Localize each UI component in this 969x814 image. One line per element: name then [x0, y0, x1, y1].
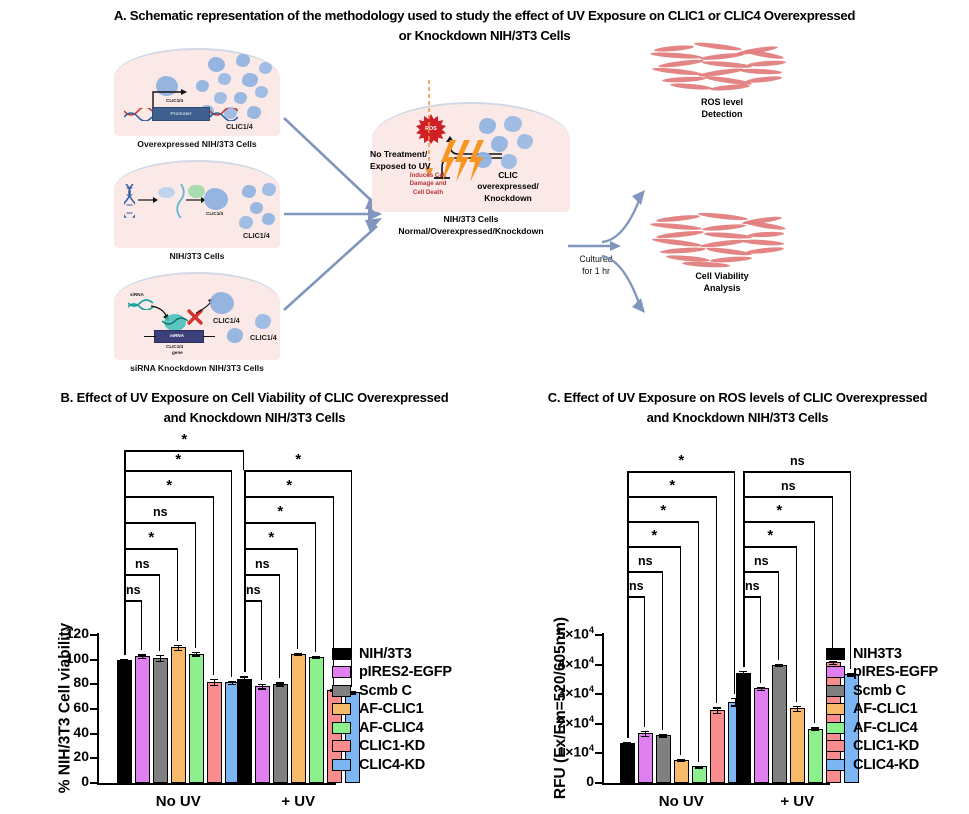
ros-detection-cells-image: [648, 44, 796, 92]
bracket-right-tick: [832, 496, 834, 657]
legend-color-swatch: [826, 648, 845, 660]
y-tick-mark: [595, 782, 603, 784]
legend-label: AF-CLIC1: [853, 701, 917, 717]
significance-bracket: ns: [743, 496, 833, 497]
bracket-horizontal-line: [124, 600, 142, 602]
legend-color-swatch: [332, 759, 351, 771]
dna-strand-icon: [210, 108, 238, 121]
bracket-horizontal-line: [743, 596, 761, 598]
bracket-horizontal-line: [124, 548, 178, 550]
clic-line2: overexpressed/: [477, 181, 538, 191]
legend-item[interactable]: pIRES-EGFP: [826, 665, 938, 680]
bracket-right-tick: [141, 600, 143, 650]
legend-label: CLIC4-KD: [359, 757, 425, 773]
promoter-box: Promoter: [152, 107, 210, 121]
legend-label: pIRES2-EGFP: [359, 664, 452, 680]
bar: [754, 688, 769, 783]
bracket-horizontal-line: [627, 546, 681, 548]
bar: [656, 735, 671, 783]
significance-label: ns: [244, 557, 280, 571]
significance-label: *: [627, 505, 699, 518]
significance-bracket: ns: [124, 522, 196, 523]
ros-detection-caption: ROS level Detection: [650, 96, 794, 120]
bar: [674, 760, 689, 783]
legend-item[interactable]: CLIC1-KD: [826, 739, 938, 754]
error-bar-cap: [757, 690, 765, 691]
bar: [135, 656, 150, 783]
clic-protein-blob: [210, 292, 234, 314]
clic-group-label: CLIC1/4: [250, 333, 277, 342]
panel-b-legend: NIH/3T3pIRES2-EGFPScmb CAF-CLIC1AF-CLIC4…: [332, 646, 452, 776]
significance-label: *: [244, 454, 352, 467]
damage-line3: Cell Death: [413, 189, 443, 196]
error-bar-cap: [793, 706, 801, 707]
legend-color-swatch: [826, 666, 845, 678]
error-bar-cap: [210, 679, 218, 680]
legend-item[interactable]: AF-CLIC1: [332, 702, 452, 717]
legend-label: CLIC4-KD: [853, 757, 919, 773]
gene-name-label: CLIC1/4: [166, 98, 183, 103]
gene-caption-line1: CLIC1/4: [166, 344, 183, 349]
uv-line2: Exposed to UV: [370, 161, 431, 171]
y-tick-mark: [90, 683, 98, 685]
significance-bracket: *: [124, 496, 214, 497]
significance-bracket: *: [124, 470, 232, 471]
cell-diagram-caption: siRNA Knockdown NIH/3T3 Cells: [114, 363, 280, 373]
bracket-horizontal-line: [124, 450, 244, 452]
bar: [620, 743, 635, 783]
significance-label: ns: [627, 554, 663, 568]
gene-box-label: mRNA: [170, 333, 184, 338]
significance-label: *: [627, 530, 681, 543]
y-tick-mark: [595, 693, 603, 695]
error-bar-cap: [641, 736, 649, 737]
legend-label: NIH/3T3: [359, 646, 412, 662]
bracket-horizontal-line: [627, 521, 699, 523]
mrna-strand-icon: [162, 316, 188, 328]
y-axis-title: % NIH/3T3 Cell viability: [56, 623, 74, 794]
significance-bracket: ns: [743, 571, 779, 572]
significance-label: ns: [743, 579, 761, 593]
bracket-right-tick: [662, 571, 664, 730]
significance-label: *: [124, 532, 178, 545]
x-axis-line: [602, 783, 830, 785]
legend-label: CLIC1-KD: [359, 738, 425, 754]
significance-bracket: *: [124, 548, 178, 549]
bracket-left-tick: [627, 471, 629, 738]
bracket-horizontal-line: [743, 571, 779, 573]
bracket-right-tick: [297, 548, 299, 649]
error-bar-cap: [138, 654, 146, 655]
bracket-right-tick: [279, 574, 281, 678]
bar: [638, 733, 653, 783]
bracket-right-tick: [760, 596, 762, 683]
legend-item[interactable]: AF-CLIC4: [826, 720, 938, 735]
legend-color-swatch: [826, 685, 845, 697]
bar: [710, 710, 725, 783]
significance-label: ns: [124, 583, 142, 597]
significance-bracket: *: [244, 522, 316, 523]
legend-color-swatch: [826, 703, 845, 715]
significance-label: ns: [244, 583, 262, 597]
error-bar-cap: [793, 711, 801, 712]
bracket-horizontal-line: [743, 496, 833, 498]
cell-diagram-caption: NIH/3T3 Cells: [114, 251, 280, 261]
gene-flank-line: [144, 336, 156, 337]
significance-label: *: [124, 480, 214, 493]
legend-item[interactable]: CLIC1-KD: [332, 739, 452, 754]
bracket-right-tick: [850, 471, 852, 669]
bar: [309, 657, 324, 783]
bar: [207, 682, 222, 783]
panel-c-legend: NIH3T3pIRES-EGFPScmb CAF-CLIC1AF-CLIC4CL…: [826, 646, 938, 776]
legend-color-swatch: [332, 703, 351, 715]
bar: [117, 660, 132, 783]
clic-line3: Knockdown: [484, 193, 531, 203]
legend-item[interactable]: Scmb C: [332, 683, 452, 698]
error-bar-cap: [811, 727, 819, 728]
overexpressed-cell-diagram: Promoter CLIC1/4 CLIC1/4 Overexpressed N…: [114, 48, 280, 136]
bracket-left-tick: [124, 470, 126, 655]
cell-viability-caption: Cell Viability Analysis: [650, 270, 794, 294]
bracket-right-tick: [698, 521, 700, 762]
bracket-right-tick: [734, 471, 736, 694]
error-bar-cap: [276, 682, 284, 683]
legend-color-swatch: [332, 666, 351, 678]
legend-label: AF-CLIC4: [359, 720, 423, 736]
legend-color-swatch: [332, 685, 351, 697]
significance-label: *: [244, 506, 316, 519]
bracket-left-tick: [743, 471, 745, 667]
bar: [171, 647, 186, 783]
legend-color-swatch: [332, 722, 351, 734]
bracket-horizontal-line: [627, 571, 663, 573]
legend-item[interactable]: Scmb C: [826, 683, 938, 698]
output2-line2: Analysis: [703, 283, 740, 293]
center-caption-line2: Normal/Overexpressed/Knockdown: [398, 226, 543, 236]
y-tick-mark: [90, 757, 98, 759]
output2-line1: Cell Viability: [695, 271, 748, 281]
center-cell-caption: NIH/3T3 Cells Normal/Overexpressed/Knock…: [372, 214, 570, 237]
legend-label: AF-CLIC1: [359, 701, 423, 717]
bracket-right-tick: [177, 548, 179, 641]
significance-label: *: [743, 530, 797, 543]
bracket-left-tick: [244, 470, 246, 672]
legend-color-swatch: [826, 759, 845, 771]
bar: [772, 665, 787, 783]
legend-color-swatch: [826, 740, 845, 752]
error-bar-cap: [312, 657, 320, 658]
y-tick-mark: [90, 634, 98, 636]
significance-bracket: ns: [244, 600, 262, 601]
panel-b-tag: B.: [61, 390, 74, 405]
error-bar-cap: [240, 676, 248, 677]
error-bar-cap: [240, 681, 248, 682]
legend-label: AF-CLIC4: [853, 720, 917, 736]
bar: [237, 679, 252, 783]
panel-b-title: B. Effect of UV Exposure on Cell Viabili…: [2, 388, 507, 428]
significance-bracket: ns: [743, 596, 761, 597]
bracket-horizontal-line: [124, 496, 214, 498]
legend-item[interactable]: AF-CLIC4: [332, 720, 452, 735]
bracket-horizontal-line: [124, 470, 232, 472]
significance-label: ns: [743, 454, 851, 468]
bracket-right-tick: [213, 496, 215, 675]
bracket-right-tick: [159, 574, 161, 651]
panel-c-title-line2: and Knockdown NIH/3T3 Cells: [647, 410, 829, 425]
legend-item[interactable]: CLIC4-KD: [826, 757, 938, 772]
cell-viability-cells-image: [648, 214, 796, 266]
uv-lightning-bolts-icon: [440, 140, 486, 182]
bracket-horizontal-line: [743, 471, 851, 473]
legend-color-swatch: [332, 648, 351, 660]
significance-label: ns: [627, 579, 645, 593]
significance-bracket: ns: [244, 574, 280, 575]
legend-label: NIH3T3: [853, 646, 902, 662]
y-tick-mark: [90, 708, 98, 710]
error-bar-cap: [695, 767, 703, 768]
y-tick-mark: [90, 659, 98, 661]
error-bar-cap: [641, 731, 649, 732]
bar: [790, 708, 805, 783]
bracket-right-tick: [315, 522, 317, 652]
significance-bracket: *: [743, 546, 797, 547]
error-bar-cap: [775, 665, 783, 666]
legend-label: CLIC1-KD: [853, 738, 919, 754]
bracket-horizontal-line: [627, 596, 645, 598]
legend-item[interactable]: CLIC4-KD: [332, 757, 452, 772]
error-bar-cap: [739, 674, 747, 675]
protein-name-label: CLIC1/4: [213, 316, 240, 325]
bracket-horizontal-line: [244, 548, 298, 550]
significance-label: *: [124, 434, 244, 447]
bracket-right-tick: [680, 546, 682, 755]
x-group-label: + UV: [248, 793, 348, 810]
bracket-left-tick: [124, 450, 126, 470]
dna-double-helix-icon: [124, 184, 135, 218]
clic-protein-blob: [204, 188, 228, 210]
legend-item[interactable]: AF-CLIC1: [826, 702, 938, 717]
clic-line1: CLIC: [498, 170, 518, 180]
significance-label: *: [743, 505, 815, 518]
x-group-label: No UV: [128, 793, 228, 810]
y-tick-mark: [595, 664, 603, 666]
error-bar-cap: [174, 650, 182, 651]
bar: [808, 729, 823, 783]
legend-item[interactable]: NIH/3T3: [332, 646, 452, 661]
bracket-right-tick: [243, 450, 245, 470]
error-bar-cap: [192, 652, 200, 653]
significance-label: ns: [124, 505, 196, 519]
polymerase-blob: [158, 187, 175, 198]
panel-b-title-line1: Effect of UV Exposure on Cell Viability …: [77, 390, 449, 405]
bracket-horizontal-line: [743, 546, 797, 548]
significance-bracket: *: [627, 521, 699, 522]
bracket-horizontal-line: [244, 470, 352, 472]
error-bar-cap: [120, 661, 128, 662]
significance-bracket: *: [244, 548, 298, 549]
significance-bracket: *: [627, 496, 717, 497]
bracket-right-tick: [716, 496, 718, 703]
significance-label: ns: [124, 557, 160, 571]
significance-bracket: *: [627, 546, 681, 547]
bar: [692, 766, 707, 783]
center-caption-line1: NIH/3T3 Cells: [444, 214, 499, 224]
error-bar-cap: [228, 681, 236, 682]
significance-bracket: ns: [124, 574, 160, 575]
bar: [153, 658, 168, 783]
error-bar-cap: [258, 684, 266, 685]
legend-item[interactable]: NIH3T3: [826, 646, 938, 661]
sirna-label: siRNA: [130, 292, 144, 297]
x-group-label: + UV: [747, 793, 847, 810]
clic-protein-blob: [208, 57, 225, 72]
bracket-right-tick: [195, 522, 197, 648]
error-bar-cap: [677, 761, 685, 762]
output1-line2: Detection: [701, 109, 742, 119]
y-axis-line: [602, 633, 604, 783]
y-tick-mark: [595, 723, 603, 725]
y-tick-mark: [90, 782, 98, 784]
arrow-right-icon: [138, 196, 158, 204]
legend-label: Scmb C: [359, 683, 412, 699]
y-tick-mark: [90, 733, 98, 735]
gene-flank-line: [203, 336, 215, 337]
bracket-horizontal-line: [244, 574, 280, 576]
error-bar-cap: [294, 655, 302, 656]
clic-group-label: CLIC1/4: [226, 122, 253, 131]
legend-label: pIRES-EGFP: [853, 664, 938, 680]
ribosome-icon: [188, 185, 205, 198]
significance-label: ns: [743, 479, 833, 493]
protein-name-label: CLIC1/4: [206, 211, 223, 216]
panel-a-tag: A.: [114, 8, 127, 23]
error-bar-cap: [623, 742, 631, 743]
error-bar-cap: [258, 688, 266, 689]
dna-strand-icon: [124, 108, 152, 121]
legend-color-swatch: [332, 740, 351, 752]
panel-c-title: C. Effect of UV Exposure on ROS levels o…: [508, 388, 967, 428]
error-bar-cap: [713, 707, 721, 708]
error-bar-cap: [757, 687, 765, 688]
bracket-horizontal-line: [627, 471, 735, 473]
significance-bracket: *: [627, 471, 735, 472]
panel-a-title-line2: or Knockdown NIH/3T3 Cells: [399, 28, 571, 43]
bar: [255, 686, 270, 783]
uv-treatment-label: No Treatment/ Exposed to UV: [370, 149, 431, 172]
significance-bracket: *: [244, 470, 352, 471]
significance-label: *: [244, 480, 334, 493]
normal-cell-diagram: CLIC1/4 CLIC1/4 NIH/3T3 Cells: [114, 160, 280, 248]
bracket-horizontal-line: [124, 522, 196, 524]
error-bar-cap: [228, 684, 236, 685]
error-bar-cap: [659, 736, 667, 737]
panel-c-tag: C.: [548, 390, 561, 405]
panel-b-title-line2: and Knockdown NIH/3T3 Cells: [164, 410, 346, 425]
bracket-right-tick: [261, 600, 263, 680]
legend-item[interactable]: pIRES2-EGFP: [332, 665, 452, 680]
x-group-label: No UV: [631, 793, 731, 810]
bracket-right-tick: [778, 571, 780, 660]
error-bar-cap: [210, 685, 218, 686]
bracket-horizontal-line: [244, 496, 334, 498]
clic-group-label: CLIC1/4: [243, 231, 270, 240]
legend-color-swatch: [826, 722, 845, 734]
y-tick-mark: [595, 752, 603, 754]
figure-root: A. Schematic representation of the metho…: [0, 0, 969, 814]
legend-label: Scmb C: [853, 683, 906, 699]
uv-line1: No Treatment/: [370, 149, 427, 159]
error-bar-cap: [156, 655, 164, 656]
significance-bracket: *: [743, 521, 815, 522]
significance-bracket: ns: [743, 471, 851, 472]
bar: [189, 654, 204, 784]
significance-label: *: [244, 532, 298, 545]
significance-bracket: *: [244, 496, 334, 497]
panel-a-title: A. Schematic representation of the metho…: [6, 6, 963, 46]
bar: [273, 684, 288, 783]
significance-label: *: [627, 455, 735, 468]
bracket-right-tick: [796, 546, 798, 702]
output1-line1: ROS level: [701, 97, 743, 107]
significance-bracket-between-groups: *: [124, 450, 244, 451]
panel-c-title-line1: Effect of UV Exposure on ROS levels of C…: [564, 390, 928, 405]
bracket-right-tick: [231, 470, 233, 677]
error-bar-cap: [192, 655, 200, 656]
significance-label: *: [124, 454, 232, 467]
panel-a-schematic: Promoter CLIC1/4 CLIC1/4 Overexpressed N…: [0, 44, 969, 384]
error-bar-cap: [713, 713, 721, 714]
significance-bracket: ns: [627, 571, 663, 572]
bracket-horizontal-line: [244, 522, 316, 524]
bracket-horizontal-line: [627, 496, 717, 498]
bracket-right-tick: [814, 521, 816, 723]
error-bar-cap: [739, 671, 747, 672]
sirna-knockdown-cell-diagram: siRNA mRNA CLIC1/4 gene: [114, 272, 280, 360]
x-axis-line: [97, 783, 336, 785]
bracket-horizontal-line: [244, 600, 262, 602]
y-axis-title: RFU (Ex/Em=520/605nm): [552, 617, 570, 799]
bar: [291, 654, 306, 783]
significance-bracket: ns: [124, 600, 142, 601]
error-bar-cap: [156, 661, 164, 662]
bracket-horizontal-line: [743, 521, 815, 523]
cell-diagram-caption: Overexpressed NIH/3T3 Cells: [114, 139, 280, 149]
error-bar-cap: [623, 745, 631, 746]
bracket-right-tick: [644, 596, 646, 727]
error-bar-cap: [811, 730, 819, 731]
y-tick-mark: [595, 634, 603, 636]
significance-bracket: ns: [627, 596, 645, 597]
significance-label: *: [627, 480, 717, 493]
error-bar-cap: [174, 645, 182, 646]
error-bar-cap: [276, 685, 284, 686]
panel-a-title-line1: Schematic representation of the methodol…: [130, 8, 855, 23]
gene-caption-line2: gene: [172, 350, 183, 355]
significance-label: ns: [743, 554, 779, 568]
bar: [736, 673, 751, 783]
error-bar-cap: [138, 658, 146, 659]
bracket-horizontal-line: [124, 574, 160, 576]
mrna-strand-icon: [176, 184, 186, 218]
